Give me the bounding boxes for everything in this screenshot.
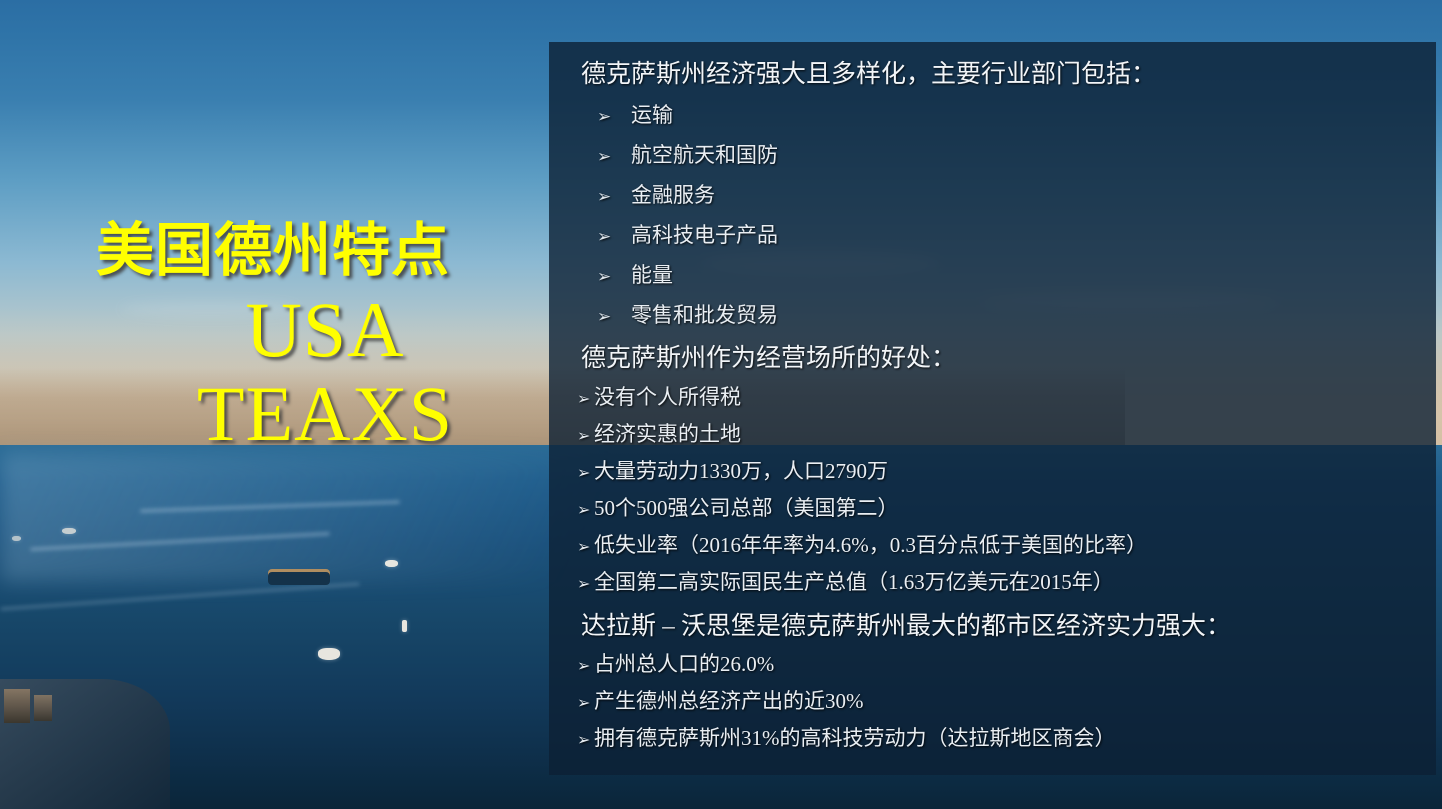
arrow-bullet-icon: ➢ <box>577 649 594 684</box>
list-item-label: 金融服务 <box>631 176 715 214</box>
list-item-label: 拥有德克萨斯州31%的高科技劳动力（达拉斯地区商会） <box>594 721 1116 756</box>
industry-list: ➢ 运输 ➢ 航空航天和国防 ➢ 金融服务 ➢ 高科技电子产品 ➢ 能量 ➢ 零… <box>573 96 1418 336</box>
list-item-label: 产生德州总经济产出的近30% <box>594 684 864 719</box>
list-item-label: 运输 <box>631 96 673 134</box>
cargo-barge <box>268 572 330 585</box>
arrow-bullet-icon: ➢ <box>577 530 594 565</box>
list-item: ➢ 占州总人口的26.0% <box>577 647 1418 684</box>
arrow-bullet-icon: ➢ <box>597 218 631 256</box>
list-item-label: 低失业率（2016年年率为4.6%，0.3百分点低于美国的比率） <box>594 528 1147 563</box>
slide-title: 美国德州特点 USA TEAXS <box>0 220 540 453</box>
list-item-label: 经济实惠的土地 <box>594 417 741 452</box>
arrow-bullet-icon: ➢ <box>577 723 594 758</box>
dfw-list: ➢ 占州总人口的26.0% ➢ 产生德州总经济产出的近30% ➢ 拥有德克萨斯州… <box>573 647 1418 758</box>
boat <box>402 620 407 632</box>
list-item-label: 高科技电子产品 <box>631 216 778 254</box>
arrow-bullet-icon: ➢ <box>597 258 631 296</box>
building <box>34 695 52 721</box>
section-heading-industries: 德克萨斯州经济强大且多样化，主要行业部门包括： <box>581 58 1418 92</box>
arrow-bullet-icon: ➢ <box>577 567 594 602</box>
list-item-label: 50个500强公司总部（美国第二） <box>594 491 899 526</box>
arrow-bullet-icon: ➢ <box>577 419 594 454</box>
boat <box>12 536 21 541</box>
arrow-bullet-icon: ➢ <box>597 138 631 176</box>
list-item-label: 能量 <box>631 256 673 294</box>
list-item: ➢ 没有个人所得税 <box>577 380 1418 417</box>
arrow-bullet-icon: ➢ <box>577 686 594 721</box>
list-item-label: 没有个人所得税 <box>594 380 741 415</box>
title-chinese: 美国德州特点 <box>6 220 540 281</box>
building <box>4 689 30 723</box>
content-panel: 德克萨斯州经济强大且多样化，主要行业部门包括： ➢ 运输 ➢ 航空航天和国防 ➢… <box>549 42 1436 775</box>
list-item: ➢ 拥有德克萨斯州31%的高科技劳动力（达拉斯地区商会） <box>577 721 1418 758</box>
list-item: ➢ 全国第二高实际国民生产总值（1.63万亿美元在2015年） <box>577 565 1418 602</box>
title-texas: TEAXS <box>110 375 540 453</box>
presentation-slide: 美国德州特点 USA TEAXS 德克萨斯州经济强大且多样化，主要行业部门包括：… <box>0 0 1442 809</box>
list-item-label: 大量劳动力1330万，人口2790万 <box>594 454 888 489</box>
arrow-bullet-icon: ➢ <box>597 98 631 136</box>
section-heading-benefits: 德克萨斯州作为经营场所的好处： <box>581 342 1418 376</box>
list-item: ➢ 金融服务 <box>597 176 1418 216</box>
list-item-label: 航空航天和国防 <box>631 136 778 174</box>
list-item: ➢ 能量 <box>597 256 1418 296</box>
list-item: ➢ 经济实惠的土地 <box>577 417 1418 454</box>
list-item: ➢ 零售和批发贸易 <box>597 296 1418 336</box>
arrow-bullet-icon: ➢ <box>597 178 631 216</box>
benefits-list: ➢ 没有个人所得税 ➢ 经济实惠的土地 ➢ 大量劳动力1330万，人口2790万… <box>573 380 1418 602</box>
list-item: ➢ 航空航天和国防 <box>597 136 1418 176</box>
list-item: ➢ 运输 <box>597 96 1418 136</box>
boat <box>318 648 340 660</box>
list-item: ➢ 大量劳动力1330万，人口2790万 <box>577 454 1418 491</box>
boat <box>385 560 398 567</box>
title-usa: USA <box>110 291 540 369</box>
arrow-bullet-icon: ➢ <box>577 456 594 491</box>
arrow-bullet-icon: ➢ <box>577 382 594 417</box>
boat <box>62 528 76 534</box>
list-item-label: 占州总人口的26.0% <box>594 647 774 682</box>
list-item: ➢ 低失业率（2016年年率为4.6%，0.3百分点低于美国的比率） <box>577 528 1418 565</box>
list-item: ➢ 50个500强公司总部（美国第二） <box>577 491 1418 528</box>
list-item: ➢ 产生德州总经济产出的近30% <box>577 684 1418 721</box>
section-heading-dfw: 达拉斯 – 沃思堡是德克萨斯州最大的都市区经济实力强大： <box>581 610 1418 644</box>
list-item-label: 全国第二高实际国民生产总值（1.63万亿美元在2015年） <box>594 565 1114 600</box>
list-item-label: 零售和批发贸易 <box>631 296 778 334</box>
arrow-bullet-icon: ➢ <box>597 298 631 336</box>
arrow-bullet-icon: ➢ <box>577 493 594 528</box>
list-item: ➢ 高科技电子产品 <box>597 216 1418 256</box>
